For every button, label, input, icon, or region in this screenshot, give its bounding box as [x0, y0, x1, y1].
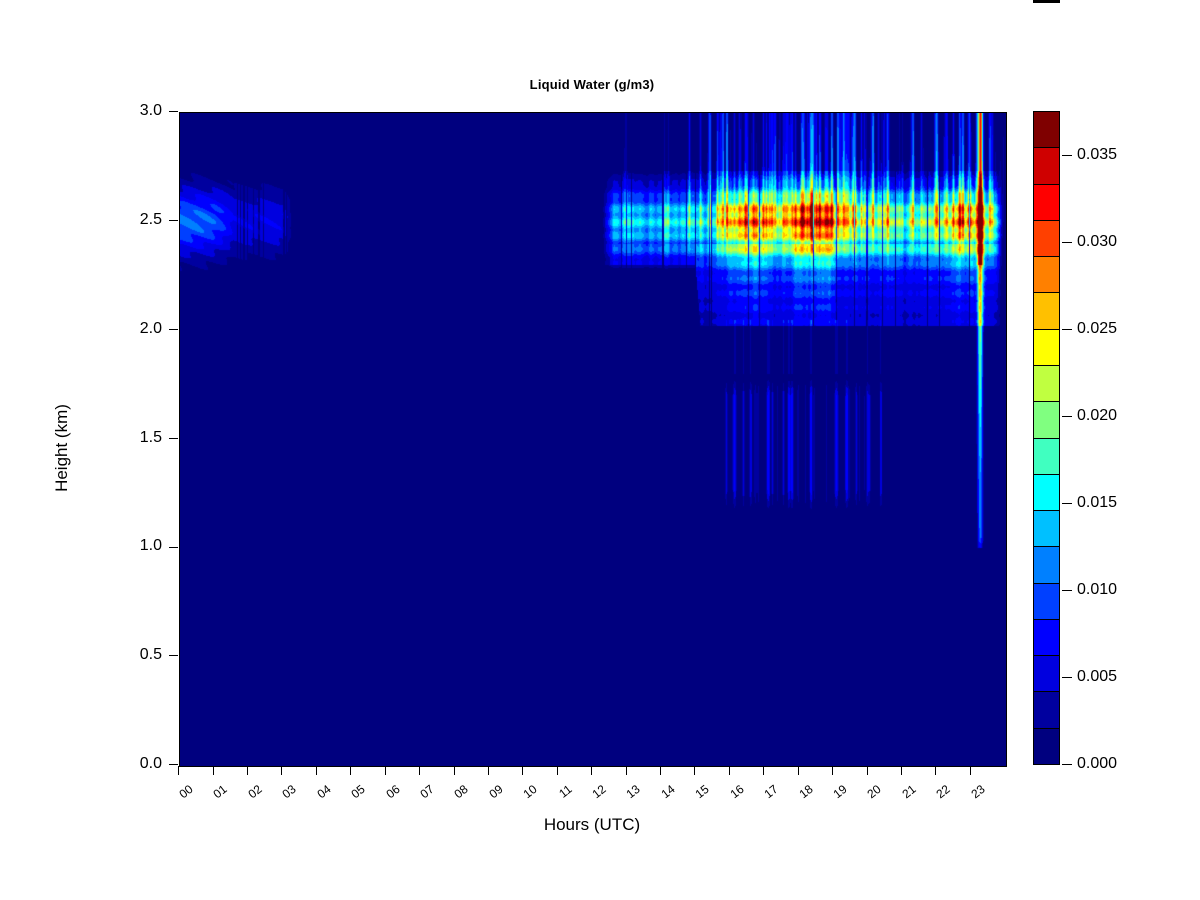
x-tick-label: 20 — [865, 782, 884, 801]
x-tick-label: 19 — [830, 782, 849, 801]
x-tick-mark — [867, 766, 868, 775]
colorbar-band — [1033, 583, 1060, 620]
x-tick-mark — [832, 766, 833, 775]
x-tick-label: 13 — [624, 782, 643, 801]
x-tick-mark — [350, 766, 351, 775]
y-tick-label: 1.0 — [140, 537, 162, 555]
x-axis-title: Hours (UTC) — [179, 815, 1005, 835]
page-title: Liquid Water (g/m3) — [179, 77, 1005, 92]
colorbar-tick-mark — [1062, 242, 1072, 243]
colorbar-band — [1033, 474, 1060, 511]
colorbar-band — [1033, 365, 1060, 402]
x-tick-mark — [316, 766, 317, 775]
clipped-colorbar-artifact — [1033, 0, 1060, 3]
colorbar-band — [1033, 728, 1060, 765]
colorbar-tick-mark — [1062, 503, 1072, 504]
y-tick-label: 2.0 — [140, 320, 162, 338]
x-tick-label: 06 — [383, 782, 402, 801]
colorbar-tick-label: 0.025 — [1077, 320, 1117, 338]
x-tick-label: 12 — [589, 782, 608, 801]
colorbar-band — [1033, 691, 1060, 728]
x-tick-label: 01 — [211, 782, 230, 801]
x-tick-mark — [901, 766, 902, 775]
colorbar-tick-mark — [1062, 329, 1072, 330]
colorbar-tick-mark — [1062, 590, 1072, 591]
colorbar-tick-label: 0.010 — [1077, 581, 1117, 599]
colorbar-band — [1033, 184, 1060, 221]
x-tick-mark — [626, 766, 627, 775]
colorbar-tick-label: 0.030 — [1077, 233, 1117, 251]
x-tick-mark — [591, 766, 592, 775]
colorbar-band — [1033, 546, 1060, 583]
colorbar-band — [1033, 438, 1060, 475]
x-tick-label: 08 — [452, 782, 471, 801]
colorbar-band — [1033, 329, 1060, 366]
colorbar-tick-label: 0.035 — [1077, 146, 1117, 164]
y-tick-label: 3.0 — [140, 102, 162, 120]
x-tick-mark — [970, 766, 971, 775]
x-tick-label: 10 — [521, 782, 540, 801]
colorbar-tick-mark — [1062, 764, 1072, 765]
x-tick-label: 00 — [176, 782, 195, 801]
x-tick-label: 07 — [417, 782, 436, 801]
x-tick-label: 05 — [349, 782, 368, 801]
colorbar-band — [1033, 220, 1060, 257]
colorbar-band — [1033, 147, 1060, 184]
heatmap-plot-area — [179, 112, 1007, 767]
y-tick-label: 2.5 — [140, 211, 162, 229]
x-tick-mark — [419, 766, 420, 775]
x-tick-mark — [763, 766, 764, 775]
x-tick-mark — [660, 766, 661, 775]
x-tick-mark — [281, 766, 282, 775]
y-tick-mark — [169, 220, 178, 221]
x-tick-mark — [729, 766, 730, 775]
y-axis-title: Height (km) — [52, 404, 72, 492]
x-tick-mark — [522, 766, 523, 775]
x-tick-label: 09 — [486, 782, 505, 801]
colorbar-tick-mark — [1062, 677, 1072, 678]
x-tick-label: 15 — [693, 782, 712, 801]
y-tick-label: 1.5 — [140, 429, 162, 447]
y-tick-mark — [169, 329, 178, 330]
colorbar-tick-label: 0.005 — [1077, 668, 1117, 686]
colorbar-tick-label: 0.020 — [1077, 407, 1117, 425]
colorbar-tick-label: 0.015 — [1077, 494, 1117, 512]
colorbar-band — [1033, 401, 1060, 438]
y-tick-label: 0.5 — [140, 646, 162, 664]
colorbar-band — [1033, 619, 1060, 656]
colorbar-band — [1033, 655, 1060, 692]
colorbar-tick-mark — [1062, 416, 1072, 417]
x-tick-label: 18 — [796, 782, 815, 801]
colorbar — [1033, 112, 1060, 765]
x-tick-label: 21 — [899, 782, 918, 801]
x-tick-mark — [488, 766, 489, 775]
x-tick-mark — [557, 766, 558, 775]
y-tick-mark — [169, 764, 178, 765]
x-tick-label: 04 — [314, 782, 333, 801]
y-tick-mark — [169, 655, 178, 656]
colorbar-band — [1033, 510, 1060, 547]
colorbar-band — [1033, 256, 1060, 293]
colorbar-band — [1033, 292, 1060, 329]
colorbar-band — [1033, 111, 1060, 148]
x-tick-label: 14 — [658, 782, 677, 801]
y-tick-mark — [169, 438, 178, 439]
x-tick-label: 16 — [727, 782, 746, 801]
x-tick-label: 03 — [280, 782, 299, 801]
x-tick-label: 17 — [762, 782, 781, 801]
heatmap-image — [180, 113, 1006, 766]
x-tick-label: 11 — [556, 782, 574, 801]
y-tick-label: 0.0 — [140, 755, 162, 773]
x-tick-label: 23 — [968, 782, 987, 801]
x-tick-mark — [178, 766, 179, 775]
y-tick-mark — [169, 111, 178, 112]
x-tick-mark — [247, 766, 248, 775]
x-tick-mark — [385, 766, 386, 775]
x-tick-mark — [213, 766, 214, 775]
x-tick-mark — [454, 766, 455, 775]
x-tick-label: 02 — [245, 782, 264, 801]
colorbar-tick-mark — [1062, 155, 1072, 156]
x-tick-label: 22 — [934, 782, 953, 801]
x-tick-mark — [798, 766, 799, 775]
x-tick-mark — [935, 766, 936, 775]
y-tick-mark — [169, 547, 178, 548]
figure-canvas: Liquid Water (g/m3) 0.00.51.01.52.02.53.… — [0, 0, 1200, 900]
colorbar-tick-label: 0.000 — [1077, 755, 1117, 773]
x-tick-mark — [694, 766, 695, 775]
